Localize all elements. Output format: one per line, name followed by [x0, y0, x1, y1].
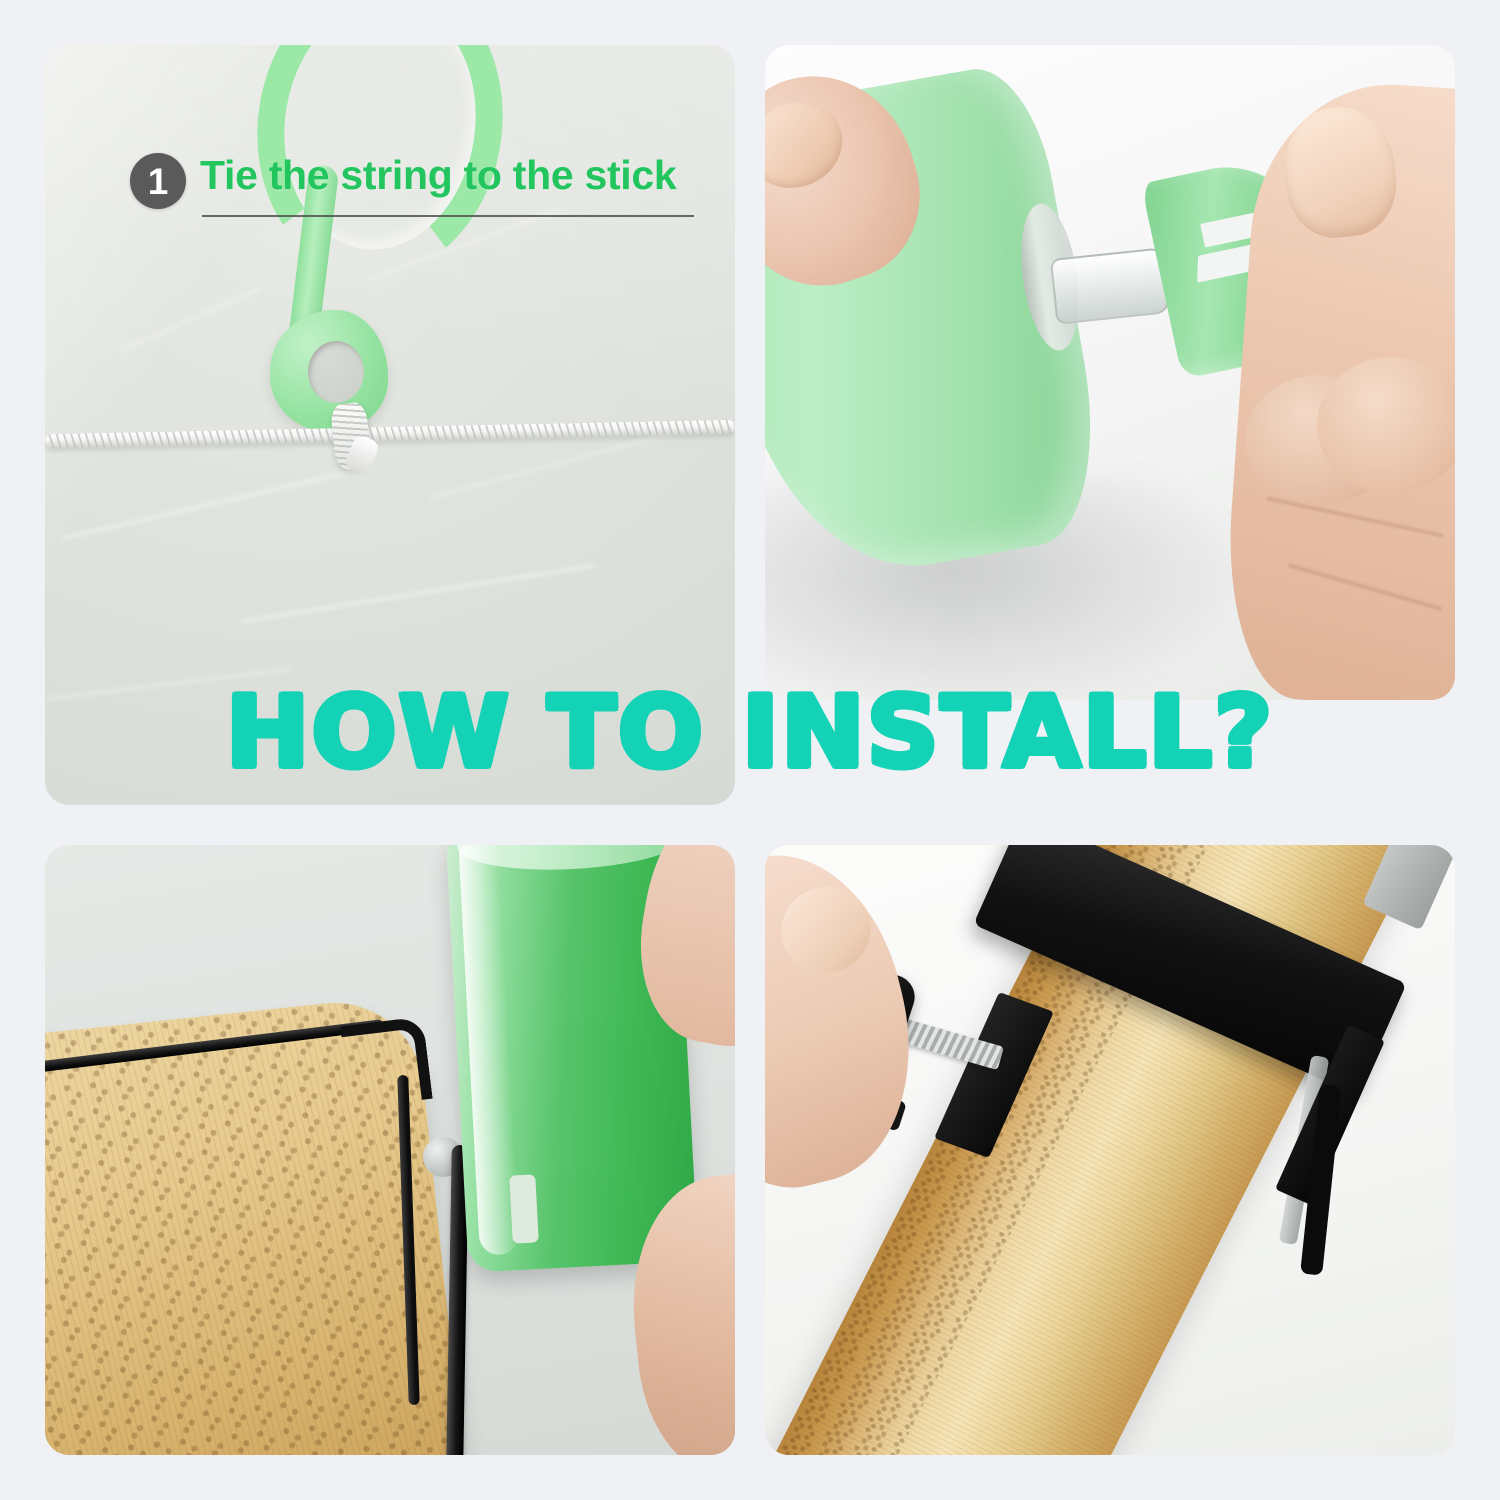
step-1-label: Tie the string to the stick	[200, 153, 676, 199]
step-4-panel: 4 Insert the metal holder to the toy	[45, 845, 735, 1455]
toy-slot	[509, 1174, 539, 1243]
surface-scratch	[120, 288, 259, 352]
surface-scratch	[46, 668, 293, 700]
step-1-badge: 1	[130, 153, 186, 209]
step-3-photo	[765, 845, 1455, 1455]
eyelet-hole	[308, 341, 364, 403]
surface-scratch	[429, 429, 683, 499]
step-1-caption: 1 Tie the string to the stick	[130, 153, 676, 209]
metal-holder-corner	[340, 1016, 432, 1108]
right-hand-knuckle	[1317, 357, 1455, 493]
instruction-collage: 1 Tie the string to the stick 2 Instal	[0, 0, 1500, 1500]
clear-plastic-connector	[1050, 247, 1170, 325]
step-1-underline	[202, 215, 694, 217]
step-2-panel: 2 Install the stick to the product	[765, 45, 1455, 700]
surface-scratch	[240, 564, 595, 623]
step-3-panel: 3 Install the product to the door	[765, 845, 1455, 1455]
surface-scratch	[63, 465, 373, 539]
step-4-photo	[45, 845, 735, 1455]
step-1-panel: 1 Tie the string to the stick	[45, 45, 735, 805]
step-2-photo	[765, 45, 1455, 700]
